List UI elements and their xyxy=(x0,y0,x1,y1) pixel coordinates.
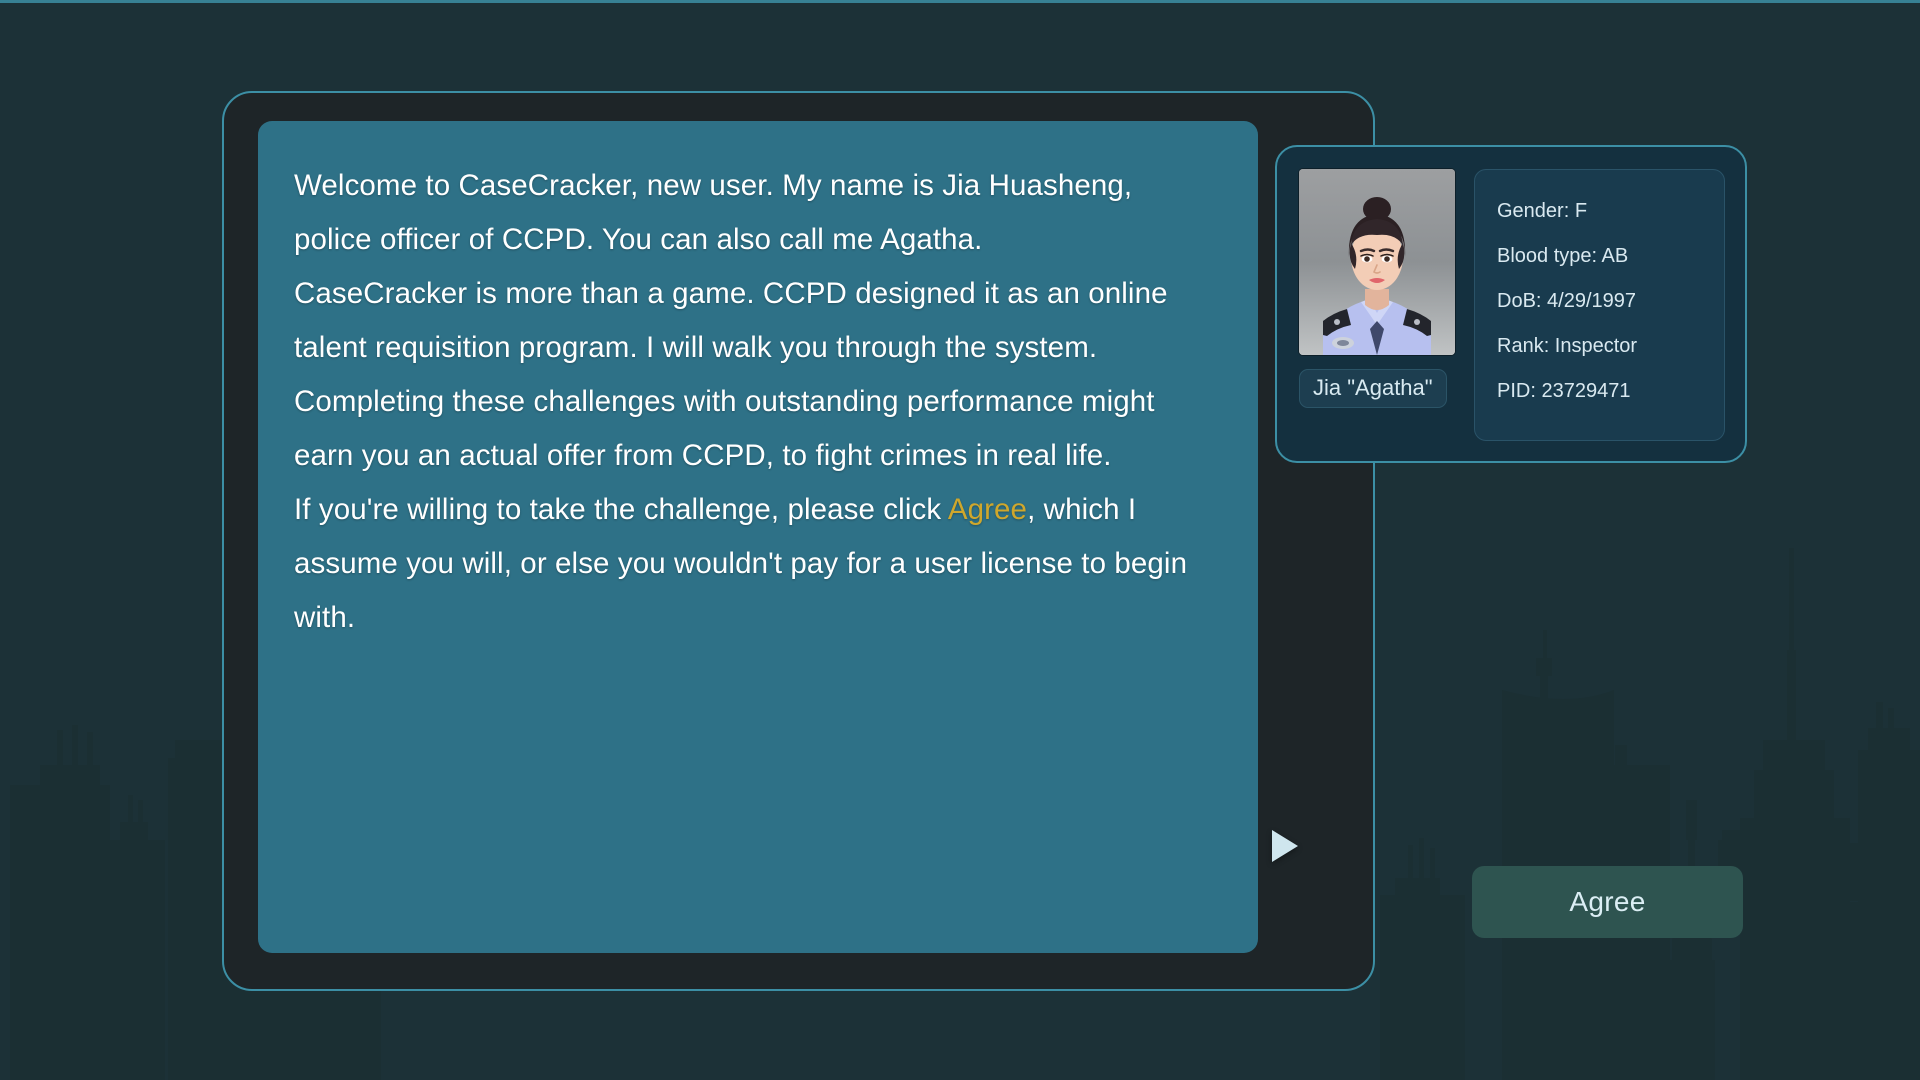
character-name-pill: Jia "Agatha" xyxy=(1299,369,1447,408)
play-triangle-icon[interactable] xyxy=(1272,830,1298,862)
dialogue-frame: Welcome to CaseCracker, new user. My nam… xyxy=(222,91,1375,991)
stat-rank: Rank: Inspector xyxy=(1497,324,1702,369)
dialogue-paragraph-2: CaseCracker is more than a game. CCPD de… xyxy=(294,277,1176,472)
agree-keyword-highlight: Agree xyxy=(948,493,1027,526)
avatar xyxy=(1299,169,1455,355)
dialogue-body[interactable]: Welcome to CaseCracker, new user. My nam… xyxy=(258,121,1258,953)
stat-blood-type: Blood type: AB xyxy=(1497,234,1702,279)
dialogue-paragraph-1: Welcome to CaseCracker, new user. My nam… xyxy=(294,169,1140,256)
officer-portrait-illustration xyxy=(1299,169,1455,355)
stat-dob: DoB: 4/29/1997 xyxy=(1497,279,1702,324)
character-card-left: Jia "Agatha" xyxy=(1299,169,1457,441)
stat-pid: PID: 23729471 xyxy=(1497,369,1702,414)
character-card: Jia "Agatha" Gender: F Blood type: AB Do… xyxy=(1275,145,1747,463)
dialogue-final-pre: If you're willing to take the challenge,… xyxy=(294,493,948,526)
game-screen: Welcome to CaseCracker, new user. My nam… xyxy=(0,0,1920,1080)
character-stats-panel: Gender: F Blood type: AB DoB: 4/29/1997 … xyxy=(1474,169,1725,441)
top-accent-rule xyxy=(0,0,1920,3)
dialogue-text: Welcome to CaseCracker, new user. My nam… xyxy=(294,159,1216,645)
agree-button[interactable]: Agree xyxy=(1472,866,1743,938)
stat-gender: Gender: F xyxy=(1497,189,1702,234)
